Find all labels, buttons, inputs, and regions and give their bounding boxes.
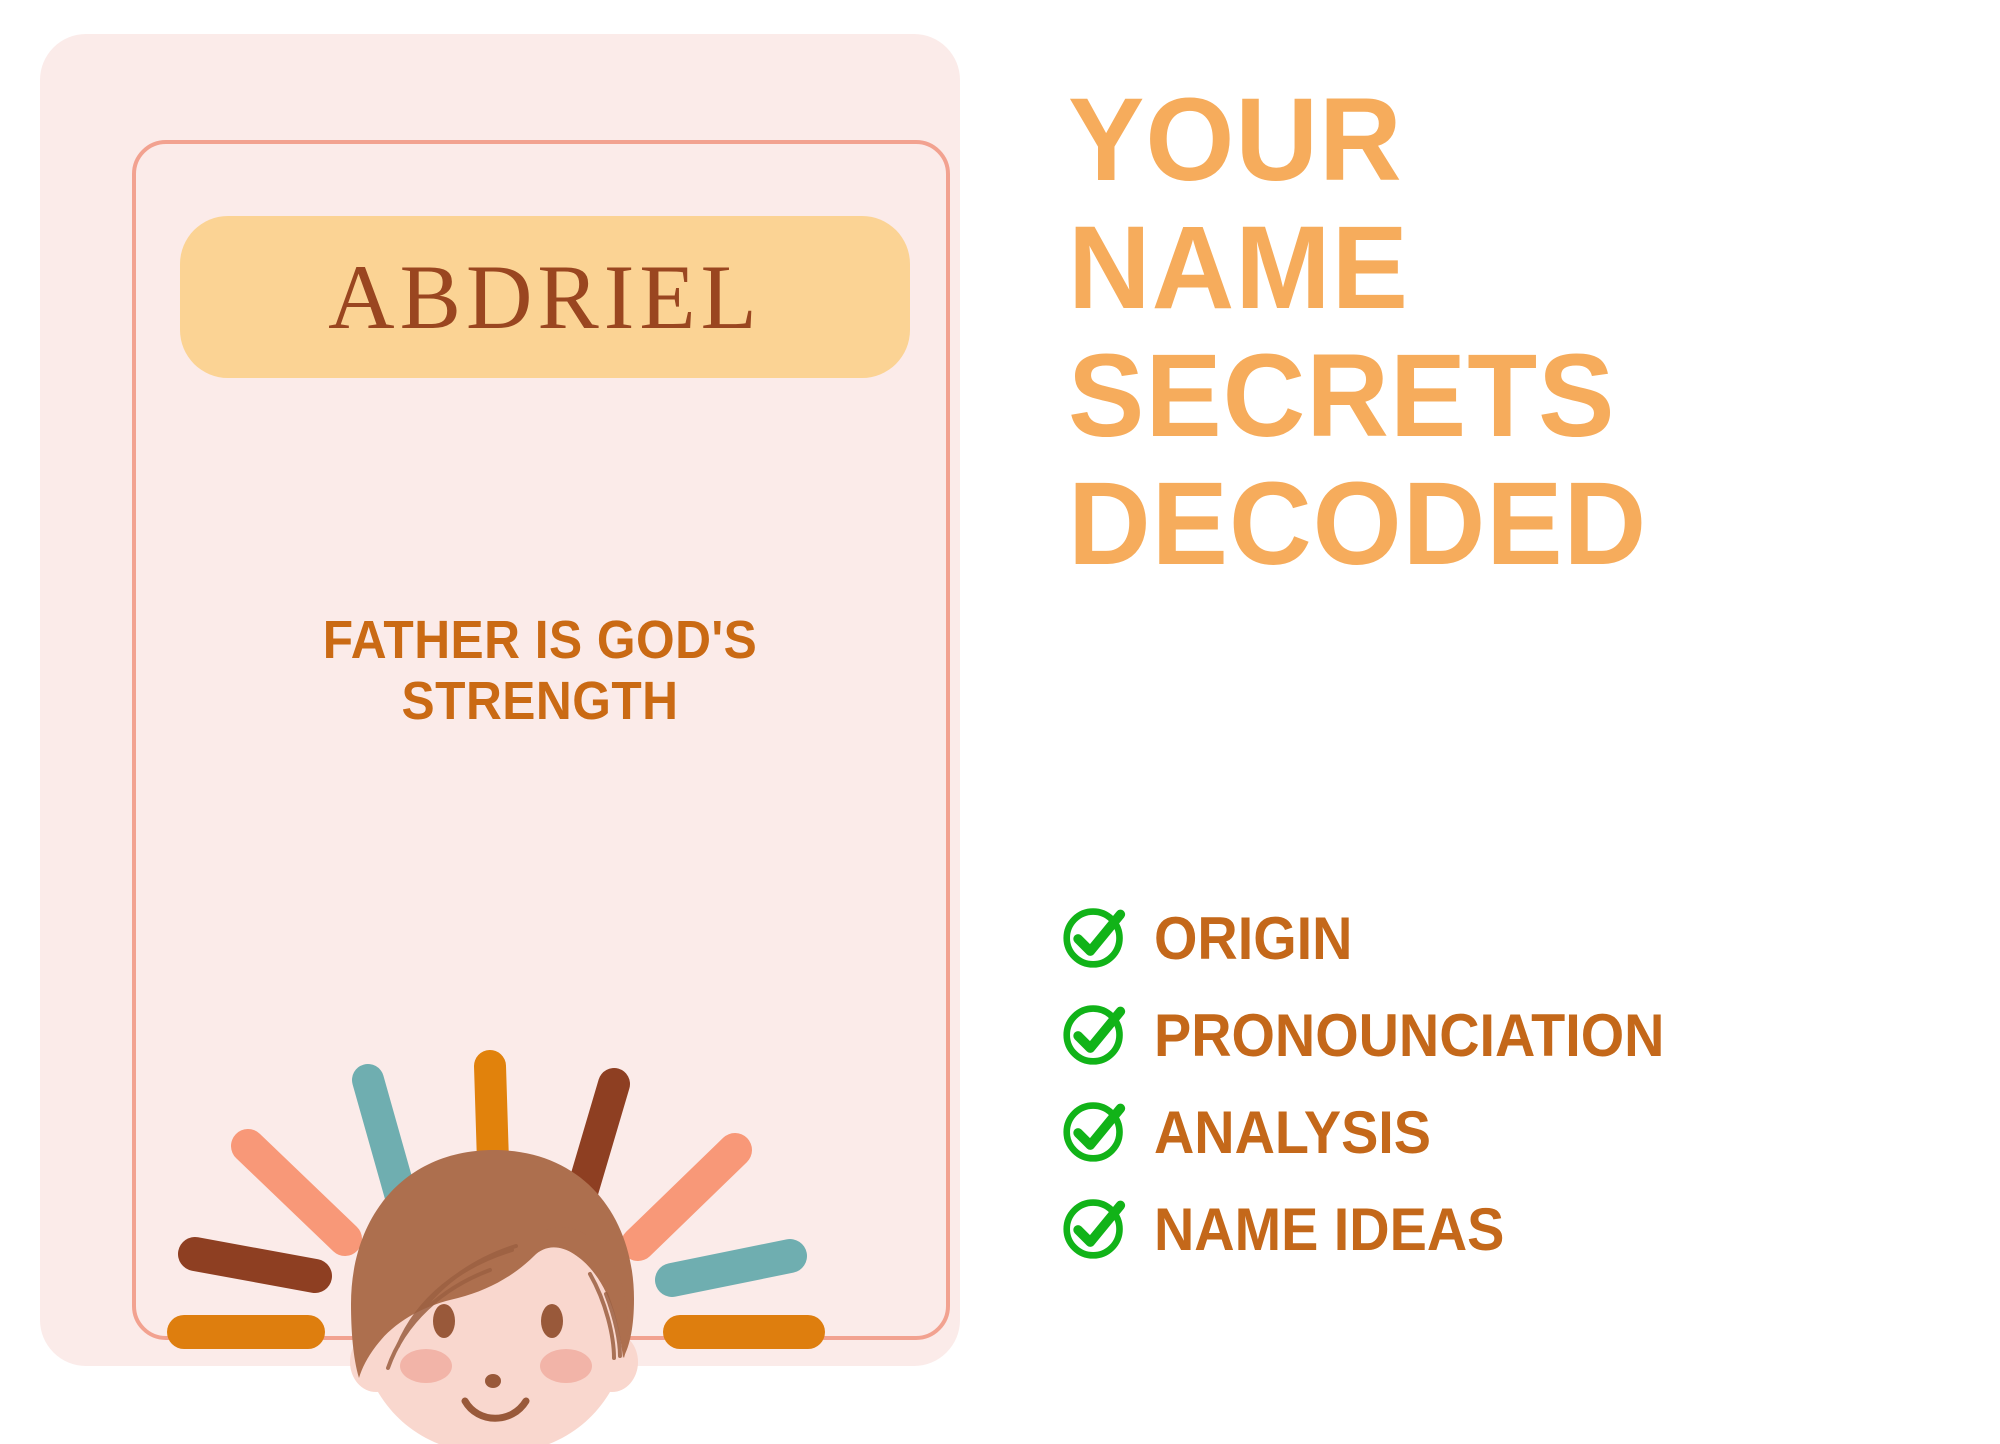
ray-left-upper-diagonal [248,1146,345,1239]
checklist-label: PRONOUNCIATION [1154,1006,1664,1066]
cheek-right [540,1349,592,1383]
checklist-item-analysis[interactable]: ANALYSIS [1062,1084,1982,1181]
check-circle-icon [1062,1195,1128,1261]
child-sunburst-illustration [160,954,860,1444]
ray-right-lower-diagonal [672,1256,790,1280]
headline-line-4: DECODED [1068,460,1941,588]
checklist-item-pronounciation[interactable]: PRONOUNCIATION [1062,987,1982,1084]
check-circle-icon [1062,904,1128,970]
name-pill: ABDRIEL [180,216,910,378]
checklist-label: ORIGIN [1154,909,1352,969]
checklist-item-name-ideas[interactable]: NAME IDEAS [1062,1181,1982,1278]
checklist-label: ANALYSIS [1154,1103,1431,1163]
cheek-left [400,1349,452,1383]
feature-checklist: ORIGIN PRONOUNCIATION ANALYSIS NAME IDEA… [1062,890,1982,1278]
eye-right [541,1304,563,1338]
checklist-label: NAME IDEAS [1154,1200,1504,1260]
headline-line-1: YOUR [1068,76,1941,204]
headline-line-3: SECRETS [1068,332,1941,460]
check-circle-icon [1062,1098,1128,1164]
nose [485,1374,501,1388]
eye-left [433,1304,455,1338]
headline-line-2: NAME [1068,204,1941,332]
check-circle-icon [1062,1001,1128,1067]
child-face [350,1150,638,1444]
ray-right-upper-diagonal [638,1150,735,1244]
ray-left-lower-diagonal [195,1254,315,1276]
headline: YOUR NAME SECRETS DECODED [1068,76,1968,588]
name-text: ABDRIEL [328,251,762,343]
name-card: ABDRIEL FATHER IS GOD'S STRENGTH [40,34,960,1366]
checklist-item-origin[interactable]: ORIGIN [1062,890,1982,987]
name-meaning-text: FATHER IS GOD'S STRENGTH [190,610,889,732]
